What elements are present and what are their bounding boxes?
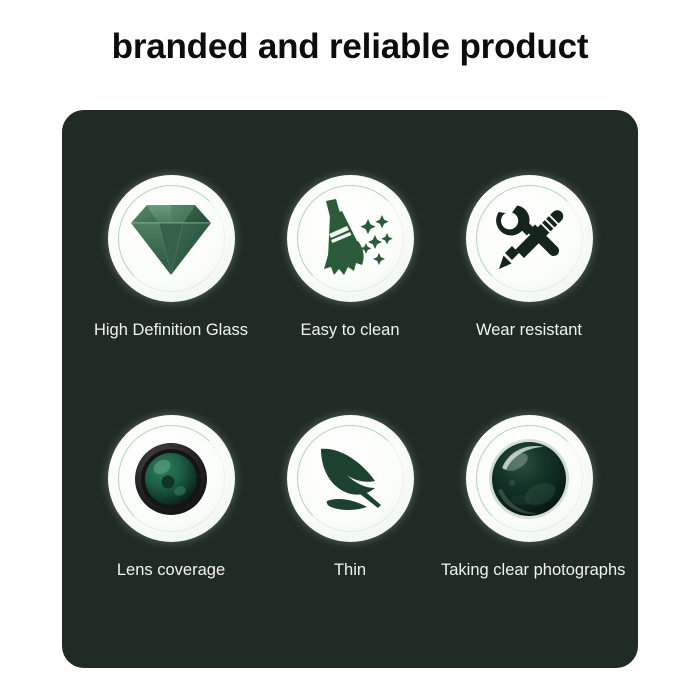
feature-item-wear-resistant[interactable]: Wear resistant bbox=[441, 175, 617, 340]
feature-icon-disc bbox=[108, 175, 235, 302]
feature-icon-disc bbox=[466, 415, 593, 542]
feature-item-taking-clear-photographs[interactable]: Taking clear photographs bbox=[441, 415, 617, 580]
feature-icon-disc bbox=[287, 415, 414, 542]
diamond-icon bbox=[108, 175, 235, 302]
feature-item-easy-to-clean[interactable]: Easy to clean bbox=[262, 175, 438, 340]
feature-label: Lens coverage bbox=[83, 560, 259, 580]
feature-item-thin[interactable]: Thin bbox=[262, 415, 438, 580]
product-feature-banner: branded and reliable product bbox=[0, 0, 700, 700]
wrench-screwdriver-icon bbox=[466, 175, 593, 302]
broom-sparkle-icon bbox=[287, 175, 414, 302]
feature-label: Wear resistant bbox=[441, 320, 617, 340]
feature-item-lens-coverage[interactable]: Lens coverage bbox=[83, 415, 259, 580]
glass-sphere-icon bbox=[466, 415, 593, 542]
feature-label: Taking clear photographs bbox=[441, 560, 617, 580]
feature-panel: High Definition Glass bbox=[62, 110, 638, 668]
feather-icon bbox=[287, 415, 414, 542]
page-title: branded and reliable product bbox=[0, 27, 700, 67]
feature-icon-disc bbox=[466, 175, 593, 302]
feature-label: Easy to clean bbox=[262, 320, 438, 340]
feature-label: High Definition Glass bbox=[83, 320, 259, 340]
feature-label: Thin bbox=[262, 560, 438, 580]
feature-item-high-definition-glass[interactable]: High Definition Glass bbox=[83, 175, 259, 340]
camera-lens-icon bbox=[108, 415, 235, 542]
feature-icon-disc bbox=[287, 175, 414, 302]
feature-icon-disc bbox=[108, 415, 235, 542]
